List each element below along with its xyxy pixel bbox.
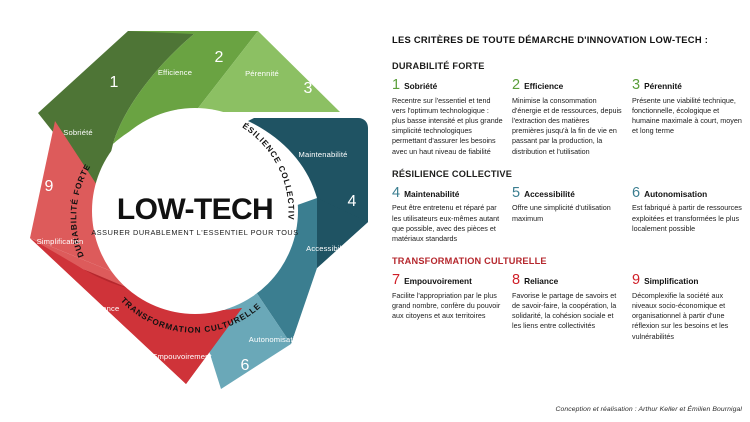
segment-label-reliance: Reliance [89, 304, 120, 313]
criterion-efficience[interactable]: 2 Efficience Minimise la consommation d'… [512, 78, 623, 157]
criterion-title: Efficience [524, 82, 563, 91]
criterion-title: Sobriété [404, 82, 437, 91]
criterion-number: 1 [392, 78, 400, 93]
segment-number-3: 3 [304, 80, 313, 97]
criteria-panel: LES CRITÈRES DE TOUTE DÉMARCHE D'INNOVAT… [392, 34, 744, 414]
criterion-body: Offre une simplicité d'utilisation maxim… [512, 203, 623, 223]
wheel-svg: DURABILITÉ FORTE RÉSILIENCE COLLECTIVE T… [8, 16, 383, 406]
criterion-perennite[interactable]: 3 Pérennité Présente une viabilité techn… [632, 78, 743, 157]
criterion-body: Décomplexifie la société aux niveaux soc… [632, 291, 743, 342]
segment-number-5: 5 [320, 300, 329, 317]
criterion-body: Facilite l'appropriation par le plus gra… [392, 291, 503, 322]
criterion-body: Minimise la consommation d'énergie et de… [512, 96, 623, 157]
criterion-autonomisation[interactable]: 6 Autonomisation Est fabriqué à partir d… [632, 186, 743, 244]
criterion-accessibilite[interactable]: 5 Accessibilité Offre une simplicité d'u… [512, 186, 623, 244]
criterion-head: 9 Simplification [632, 273, 743, 288]
criterion-title: Autonomisation [644, 190, 707, 199]
criterion-reliance[interactable]: 8 Reliance Favorise le partage de savoir… [512, 273, 623, 342]
criterion-head: 3 Pérennité [632, 78, 743, 93]
segment-label-maintenabilite: Maintenabilité [299, 150, 348, 159]
criterion-title: Accessibilité [524, 190, 575, 199]
criterion-empouvoirement[interactable]: 7 Empouvoirement Facilite l'appropriatio… [392, 273, 503, 342]
segment-number-4: 4 [348, 193, 357, 210]
criterion-head: 4 Maintenabilité [392, 186, 503, 201]
segment-label-empouvoirement: Empouvoirement [152, 352, 212, 361]
criteria-row-transformation: 7 Empouvoirement Facilite l'appropriatio… [392, 273, 744, 342]
section-resilience-collective: RÉSILIENCE COLLECTIVE 4 Maintenabilité P… [392, 169, 744, 244]
criterion-number: 9 [632, 273, 640, 288]
segment-number-7: 7 [130, 350, 139, 367]
infographic-root: DURABILITÉ FORTE RÉSILIENCE COLLECTIVE T… [0, 0, 750, 422]
criterion-title: Maintenabilité [404, 190, 459, 199]
criterion-number: 2 [512, 78, 520, 93]
segment-number-8: 8 [55, 267, 64, 284]
criterion-number: 3 [632, 78, 640, 93]
section-transformation-culturelle: TRANSFORMATION CULTURELLE 7 Empouvoireme… [392, 256, 744, 342]
segment-number-1: 1 [110, 74, 119, 91]
criterion-title: Pérennité [644, 82, 682, 91]
criterion-number: 6 [632, 186, 640, 201]
criterion-head: 5 Accessibilité [512, 186, 623, 201]
criterion-head: 1 Sobriété [392, 78, 503, 93]
criterion-title: Empouvoirement [404, 277, 472, 286]
segment-number-2: 2 [215, 49, 224, 66]
criterion-number: 5 [512, 186, 520, 201]
segment-label-perennite: Pérennité [245, 69, 279, 78]
criteria-row-durabilite: 1 Sobriété Recentre sur l'essentiel et t… [392, 78, 744, 157]
section-heading-resilience: RÉSILIENCE COLLECTIVE [392, 169, 744, 179]
criterion-body: Favorise le partage de savoirs et de sav… [512, 291, 623, 332]
criterion-simplification[interactable]: 9 Simplification Décomplexifie la sociét… [632, 273, 743, 342]
center-subtitle: ASSURER DURABLEMENT L'ESSENTIEL POUR TOU… [91, 228, 298, 237]
segment-number-6: 6 [241, 357, 250, 374]
criterion-body: Recentre sur l'essentiel et tend vers l'… [392, 96, 503, 157]
criterion-head: 7 Empouvoirement [392, 273, 503, 288]
segment-label-efficience: Efficience [158, 68, 192, 77]
segment-label-accessibilite: Accessibilité [306, 244, 350, 253]
panel-main-heading: LES CRITÈRES DE TOUTE DÉMARCHE D'INNOVAT… [392, 34, 744, 45]
criterion-maintenabilite[interactable]: 4 Maintenabilité Peut être entretenu et … [392, 186, 503, 244]
criterion-title: Reliance [524, 277, 558, 286]
criterion-body: Présente une viabilité technique, foncti… [632, 96, 743, 137]
criterion-sobriete[interactable]: 1 Sobriété Recentre sur l'essentiel et t… [392, 78, 503, 157]
section-heading-transformation: TRANSFORMATION CULTURELLE [392, 256, 744, 266]
section-heading-durabilite: DURABILITÉ FORTE [392, 61, 744, 71]
criterion-head: 8 Reliance [512, 273, 623, 288]
criterion-body: Est fabriqué à partir de ressources expl… [632, 203, 743, 234]
criterion-title: Simplification [644, 277, 698, 286]
criteria-row-resilience: 4 Maintenabilité Peut être entretenu et … [392, 186, 744, 244]
low-tech-wheel-diagram: DURABILITÉ FORTE RÉSILIENCE COLLECTIVE T… [8, 16, 383, 406]
criterion-number: 7 [392, 273, 400, 288]
center-title: LOW-TECH [117, 193, 273, 226]
criterion-head: 2 Efficience [512, 78, 623, 93]
criterion-number: 4 [392, 186, 400, 201]
segment-label-simplification: Simplification [37, 237, 84, 246]
segment-label-sobriete: Sobriété [63, 128, 92, 137]
criterion-number: 8 [512, 273, 520, 288]
segment-label-autonomisation: Autonomisation [249, 335, 303, 344]
segment-number-9: 9 [45, 178, 54, 195]
section-durabilite-forte: DURABILITÉ FORTE 1 Sobriété Recentre sur… [392, 61, 744, 157]
criterion-body: Peut être entretenu et réparé par les ut… [392, 203, 503, 244]
criterion-head: 6 Autonomisation [632, 186, 743, 201]
credit-line: Conception et réalisation : Arthur Kelle… [555, 406, 742, 413]
